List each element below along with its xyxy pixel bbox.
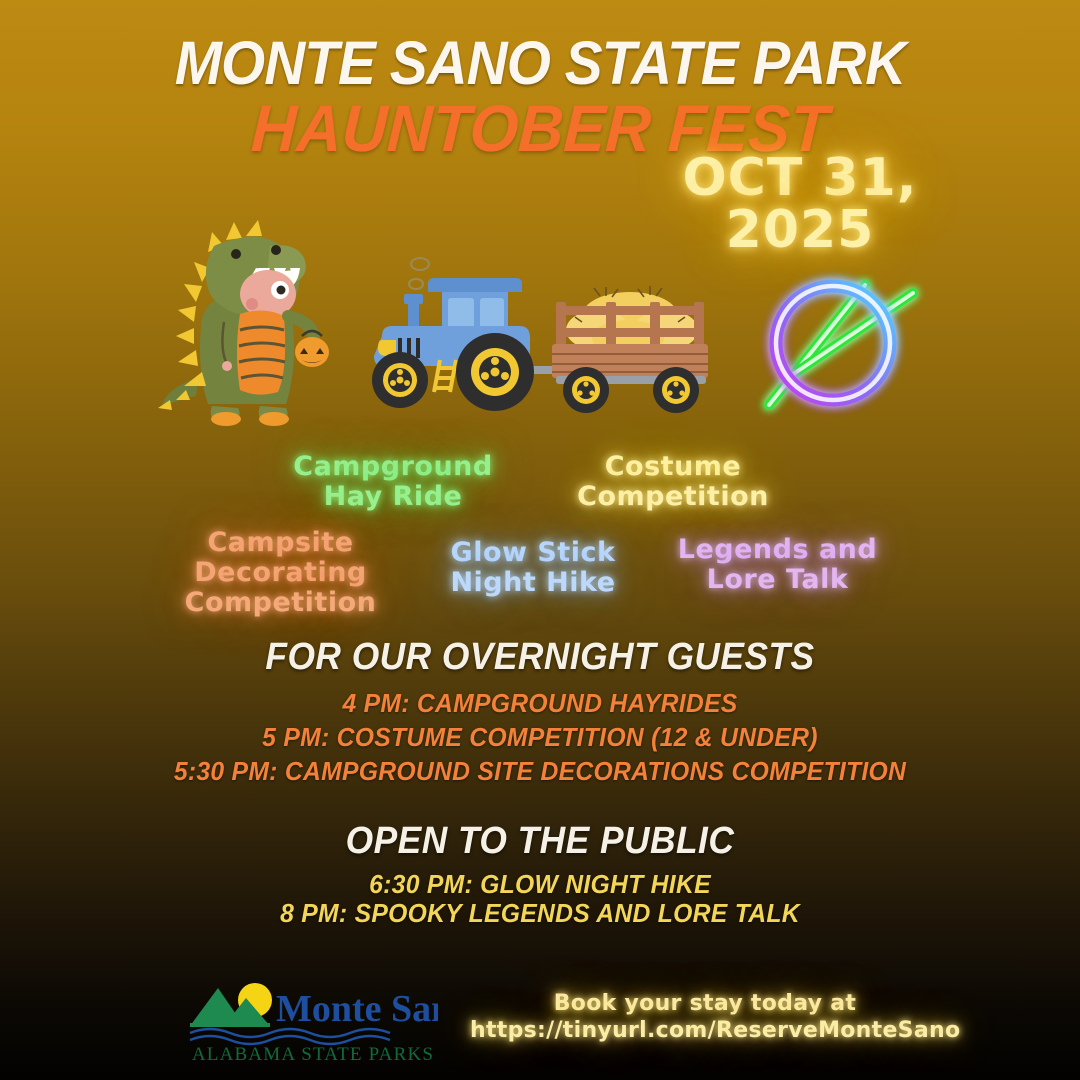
activity-label-campground-hay-ride: Campground Hay Ride: [258, 452, 528, 512]
overnight-guests-heading: FOR OUR OVERNIGHT GUESTS: [38, 636, 1042, 679]
park-title: MONTE SANO STATE PARK: [38, 28, 1042, 98]
activity-line: Competition: [538, 482, 808, 512]
activity-line: Lore Talk: [660, 565, 895, 595]
event-date: OCT 31, 2025: [590, 152, 1010, 256]
activity-label-legends-and-lore-talk: Legends and Lore Talk: [660, 535, 895, 595]
activity-label-glow-stick-night-hike: Glow Stick Night Hike: [418, 538, 648, 598]
tractor-hay-wagon-illustration: [360, 250, 730, 420]
event-poster: MONTE SANO STATE PARK HAUNTOBER FEST OCT…: [0, 0, 1080, 1080]
schedule-item: 5 PM: COSTUME COMPETITION (12 & UNDER): [27, 720, 1053, 754]
monte-sano-alabama-state-parks-logo: Monte Sano ALABAMA STATE PARKS: [188, 978, 438, 1064]
logo-subtitle: ALABAMA STATE PARKS: [192, 1044, 434, 1064]
activity-line: Night Hike: [418, 568, 648, 598]
logo-wordmark: Monte Sano: [276, 988, 438, 1030]
booking-prompt: Book your stay today at: [470, 990, 940, 1017]
activity-line: Costume: [538, 452, 808, 482]
schedule-item: 8 PM: SPOOKY LEGENDS AND LORE TALK: [27, 899, 1053, 928]
booking-url[interactable]: https://tinyurl.com/ReserveMonteSano: [470, 1017, 940, 1044]
schedule-item: 5:30 PM: CAMPGROUND SITE DECORATIONS COM…: [27, 754, 1053, 788]
event-date-line1: OCT 31,: [682, 148, 917, 208]
glow-stick-illustration: [745, 245, 935, 420]
booking-info[interactable]: Book your stay today at https://tinyurl.…: [470, 990, 940, 1044]
activity-line: Campground: [258, 452, 528, 482]
dinosaur-costume-kid-illustration: [152, 210, 342, 435]
schedule-item: 6:30 PM: GLOW NIGHT HIKE: [27, 870, 1053, 899]
overnight-schedule-list: 4 PM: CAMPGROUND HAYRIDES 5 PM: COSTUME …: [27, 686, 1053, 788]
schedule-item: 4 PM: CAMPGROUND HAYRIDES: [27, 686, 1053, 720]
activity-label-campsite-decorating-competition: Campsite Decorating Competition: [148, 528, 413, 618]
activity-label-costume-competition: Costume Competition: [538, 452, 808, 512]
activity-line: Hay Ride: [258, 482, 528, 512]
activity-line: Campsite: [148, 528, 413, 558]
activity-line: Glow Stick: [418, 538, 648, 568]
activity-line: Decorating: [148, 558, 413, 588]
activity-line: Legends and: [660, 535, 895, 565]
public-schedule-list: 6:30 PM: GLOW NIGHT HIKE 8 PM: SPOOKY LE…: [27, 870, 1053, 928]
open-to-public-heading: OPEN TO THE PUBLIC: [38, 820, 1042, 863]
activity-line: Competition: [148, 588, 413, 618]
